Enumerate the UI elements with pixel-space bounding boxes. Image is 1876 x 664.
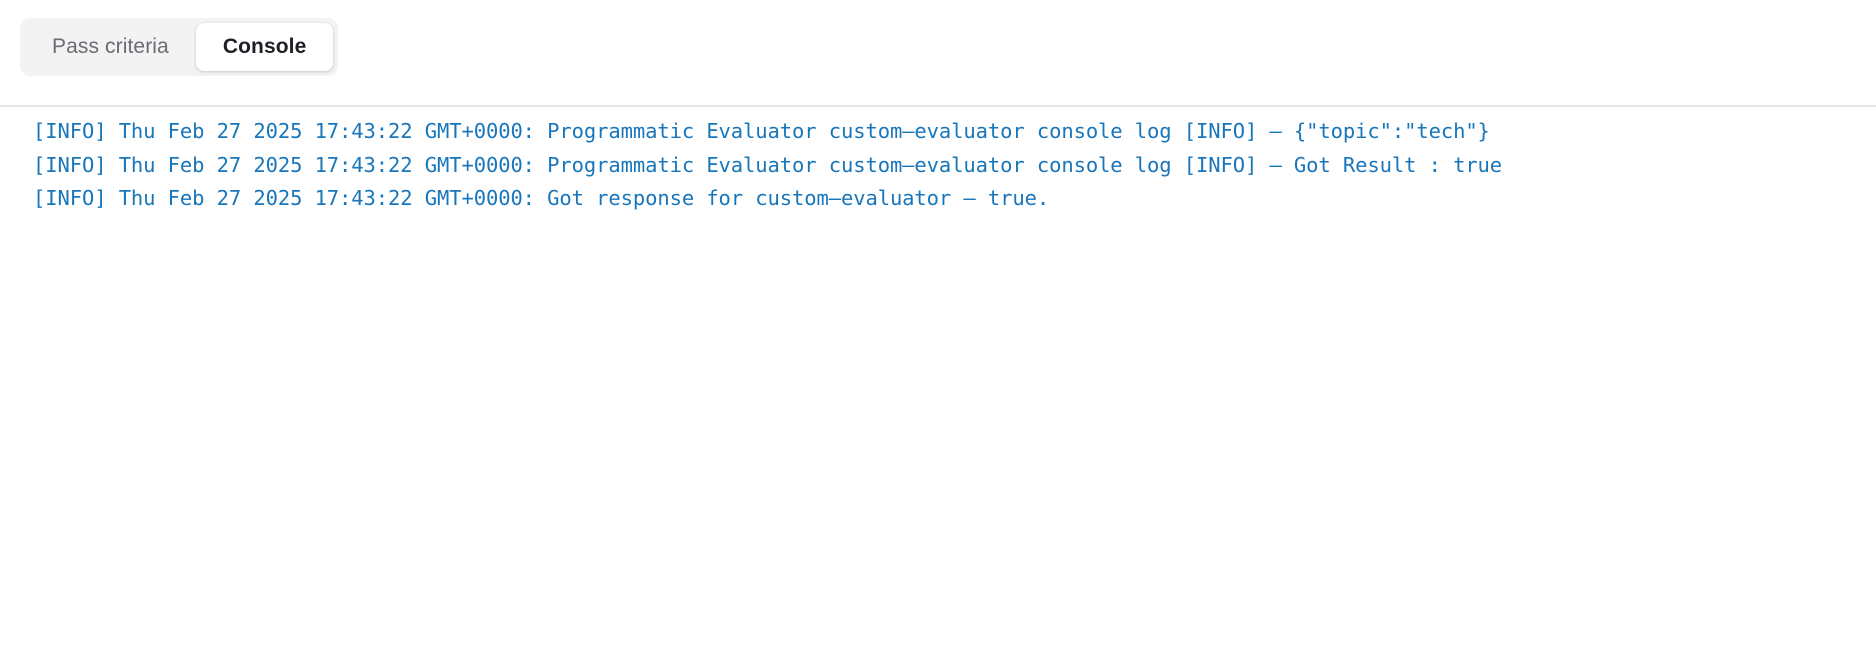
console-log-line: [INFO] Thu Feb 27 2025 17:43:22 GMT+0000… <box>33 115 1876 149</box>
tab-pass-criteria[interactable]: Pass criteria <box>25 23 196 71</box>
console-panel: Pass criteria Console [INFO] Thu Feb 27 … <box>0 0 1876 664</box>
console-output[interactable]: [INFO] Thu Feb 27 2025 17:43:22 GMT+0000… <box>0 107 1876 664</box>
console-log-line: [INFO] Thu Feb 27 2025 17:43:22 GMT+0000… <box>33 182 1876 216</box>
tab-bar: Pass criteria Console <box>0 0 1876 107</box>
tab-group: Pass criteria Console <box>20 18 338 76</box>
console-log-line: [INFO] Thu Feb 27 2025 17:43:22 GMT+0000… <box>33 149 1876 183</box>
tab-console[interactable]: Console <box>196 23 334 71</box>
